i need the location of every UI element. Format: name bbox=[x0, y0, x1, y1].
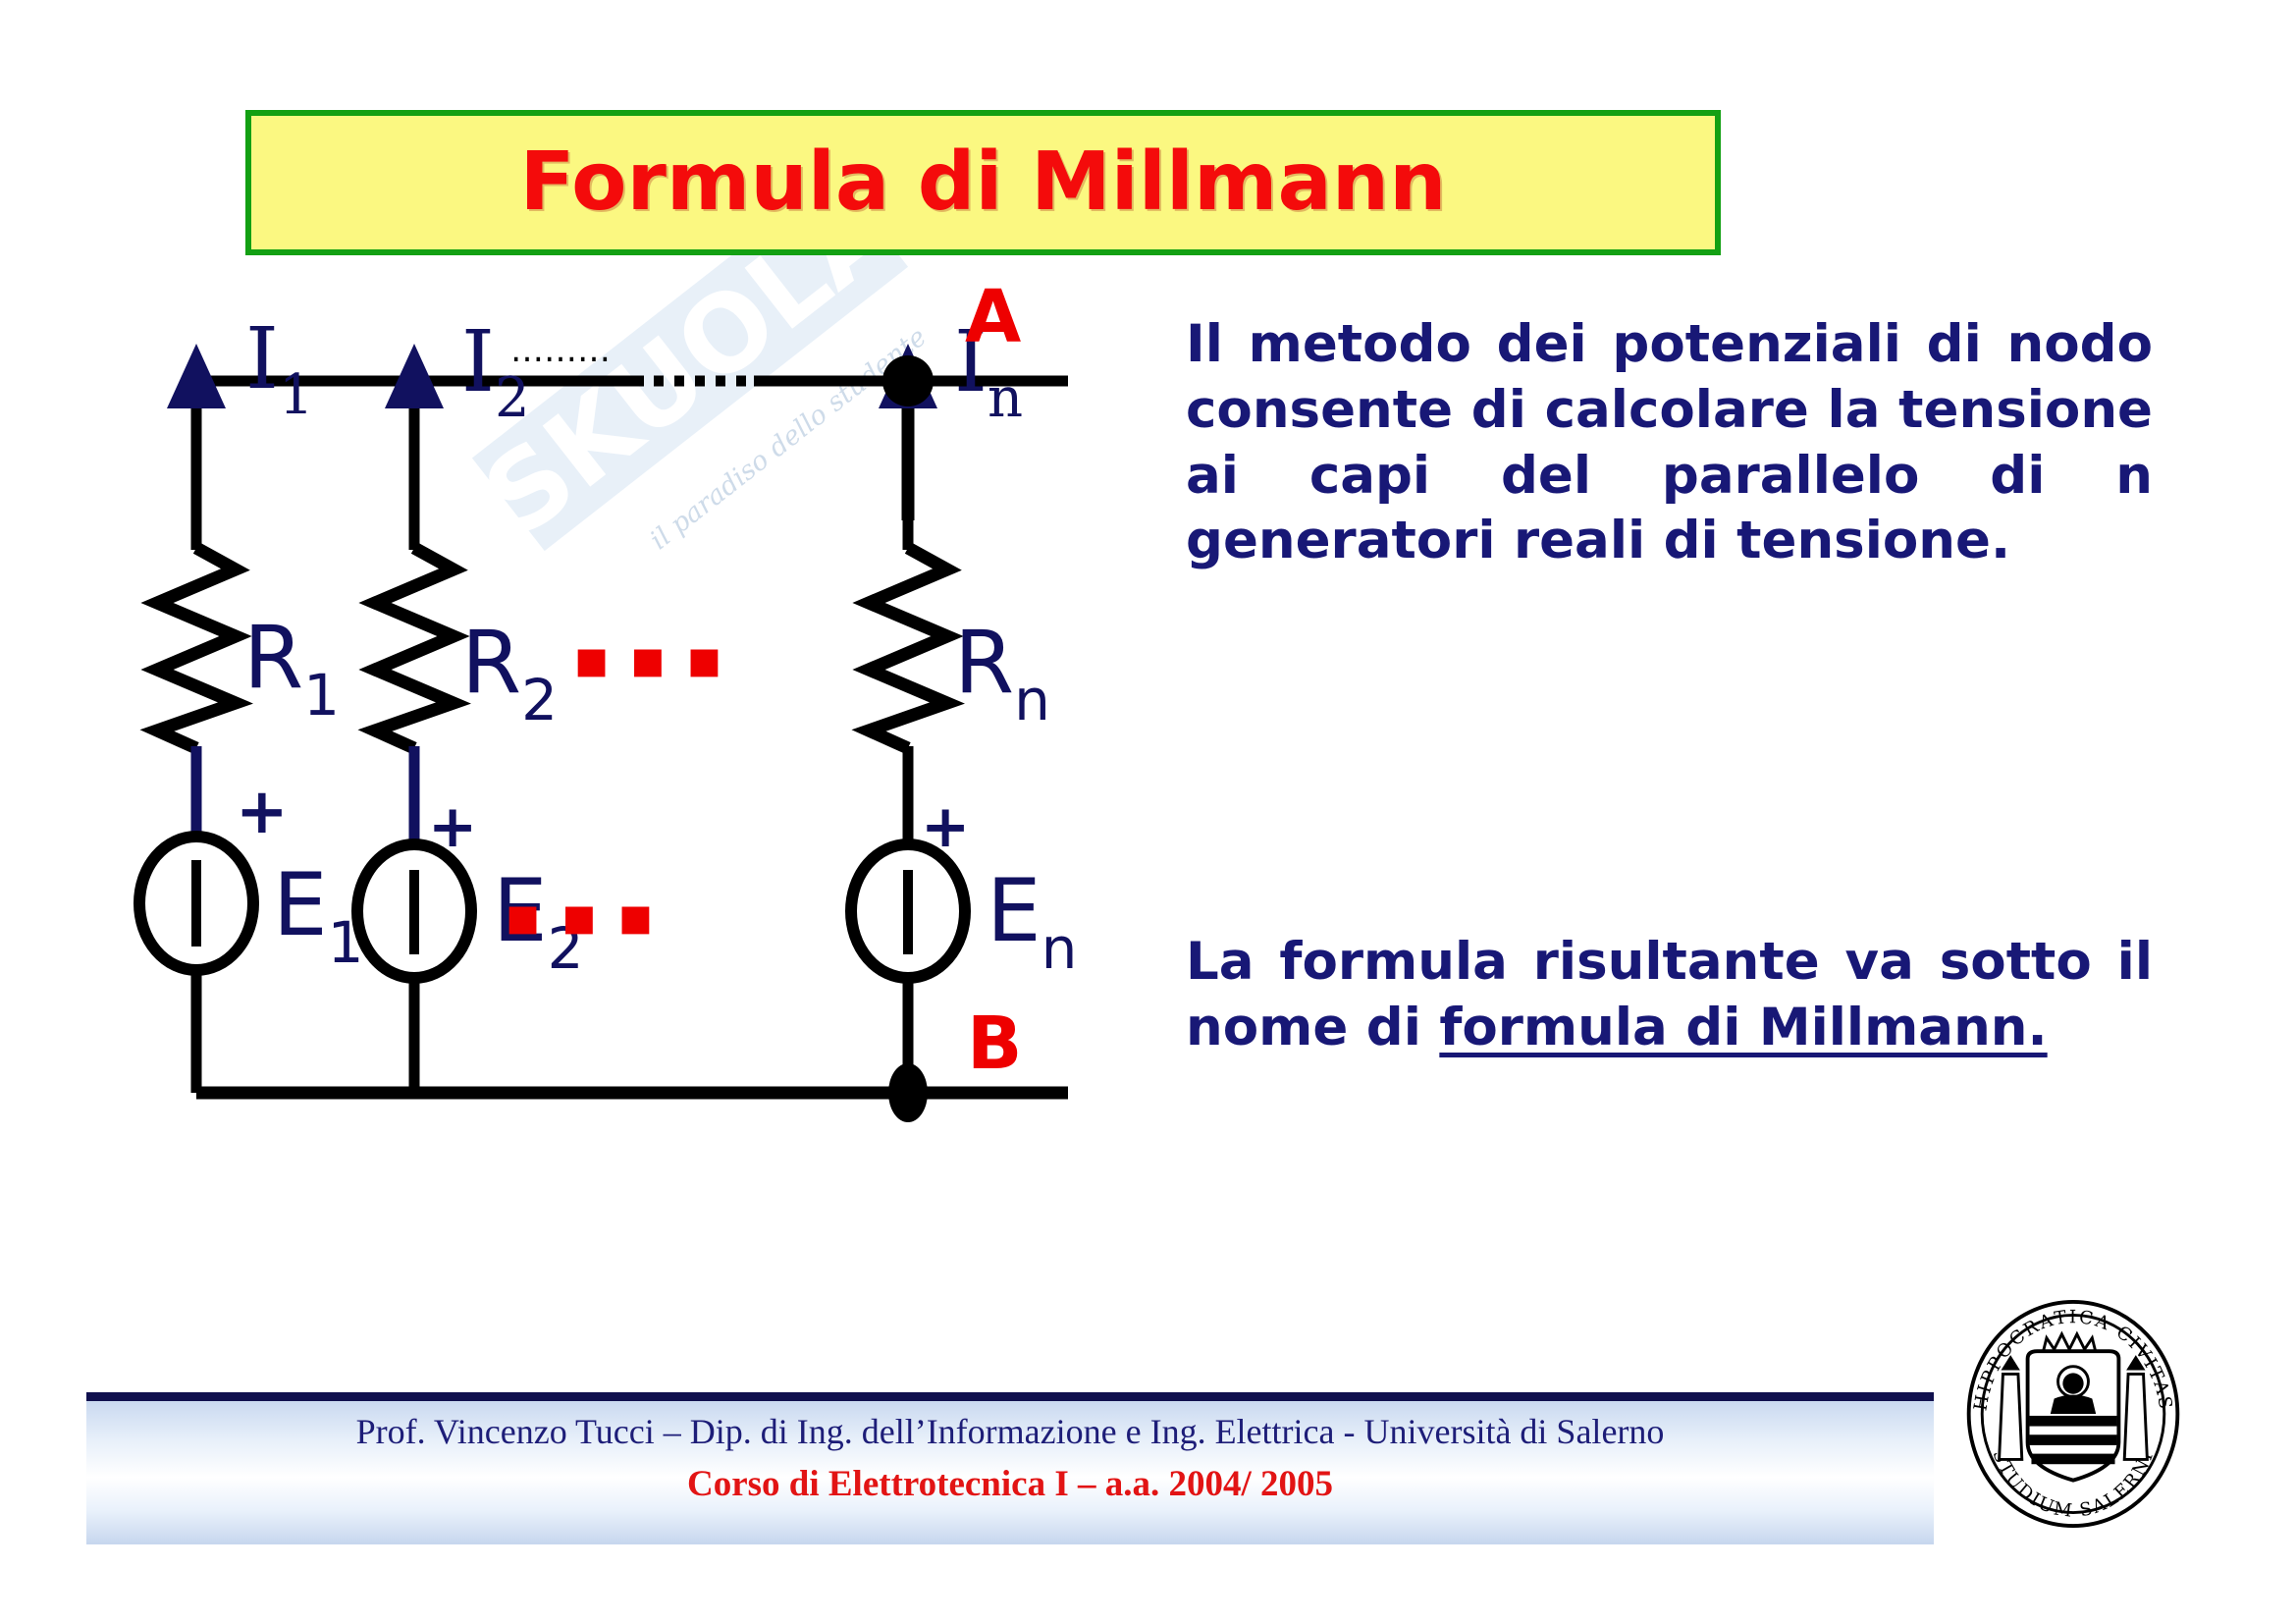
university-seal-logo: HIPPOCRATICA CIVITAS STUDIUM SALERNI bbox=[1957, 1300, 2189, 1528]
footer-course-line: Corso di Elettrotecnica I – a.a. 2004/ 2… bbox=[86, 1463, 1934, 1505]
branch-1-current-label: I1 bbox=[245, 310, 314, 427]
paragraph-formula-name-emphasis: formula di Millmann. bbox=[1439, 998, 2047, 1057]
node-b-label: B bbox=[967, 1001, 1022, 1086]
branch-1: I1 R1 + E1 bbox=[139, 310, 364, 1093]
branch-1-resistor bbox=[157, 548, 236, 748]
branch-n-resistor bbox=[869, 548, 947, 748]
seal-figure-left bbox=[2000, 1374, 2022, 1459]
node-b-dot bbox=[888, 1063, 928, 1122]
branch-2-resistor-label: R2 bbox=[461, 612, 558, 733]
branch-1-polarity-label: + bbox=[236, 776, 289, 848]
node-a-dot bbox=[882, 355, 934, 406]
resistor-row-ellipsis: ▪ ▪ ▪ bbox=[573, 627, 723, 691]
paragraph-formula-name: La formula risultante va sotto il nome d… bbox=[1186, 930, 2153, 1061]
branch-2-resistor bbox=[375, 548, 454, 748]
footer-author-line: Prof. Vincenzo Tucci – Dip. di Ing. dell… bbox=[86, 1411, 1934, 1452]
seal-figure-right bbox=[2124, 1374, 2147, 1459]
node-a-label: A bbox=[965, 275, 1021, 359]
branch-2: I2 R2 + E2 bbox=[357, 313, 584, 1093]
page-title: Formula di Millmann bbox=[519, 142, 1446, 223]
paragraph-method-description: Il metodo dei potenziali di nodo consent… bbox=[1186, 312, 2153, 574]
footer-top-rule bbox=[86, 1392, 1934, 1401]
circuit-diagram: I1 R1 + E1 I2 R2 + E2 ▪ ▪ ▪ ▪ ▪ ▪ bbox=[98, 275, 1198, 1159]
branch-n-resistor-label: Rn bbox=[954, 612, 1050, 733]
branch-n-source-label: En bbox=[987, 860, 1077, 982]
source-row-ellipsis: ▪ ▪ ▪ bbox=[505, 885, 655, 948]
branch-1-resistor-label: R1 bbox=[243, 607, 340, 729]
branch-n-polarity-label: + bbox=[921, 792, 970, 861]
branch-2-polarity-label: + bbox=[428, 792, 477, 861]
branch-1-source-label: E1 bbox=[273, 854, 364, 976]
slide-title-box: Formula di Millmann bbox=[245, 110, 1721, 255]
seal-torso bbox=[2051, 1395, 2096, 1414]
seal-head bbox=[2062, 1373, 2083, 1393]
top-rail-ellipsis-glyph: ……… bbox=[510, 331, 611, 370]
branch-n: In Rn + En bbox=[851, 313, 1077, 1093]
